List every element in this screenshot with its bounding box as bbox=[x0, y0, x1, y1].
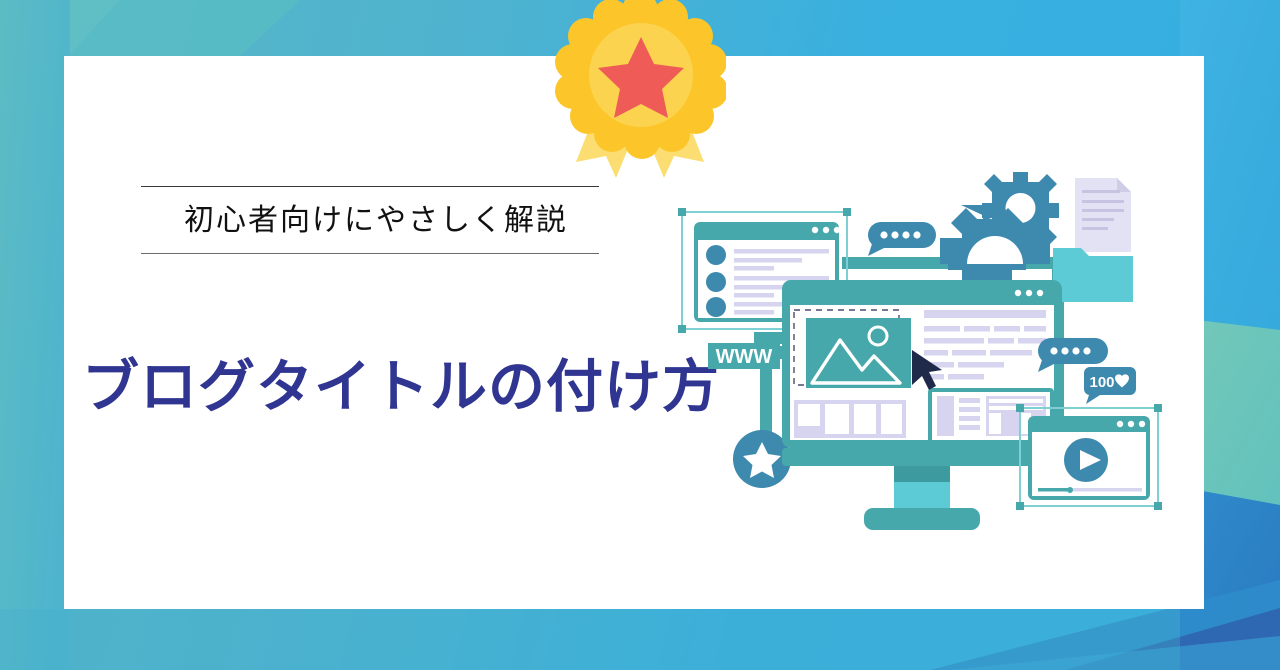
likes-badge: 100 bbox=[1084, 367, 1136, 404]
eyebrow-block: 初心者向けにやさしく解説 bbox=[141, 186, 611, 254]
progress-bar-handle bbox=[1067, 487, 1073, 493]
folder-icon bbox=[1053, 248, 1133, 302]
image-placeholder-icon bbox=[806, 318, 911, 388]
eyebrow-text: 初心者向けにやさしく解説 bbox=[141, 187, 611, 253]
web-design-illustration: WWW bbox=[672, 160, 1172, 540]
eyebrow-rule-bottom bbox=[141, 253, 599, 254]
thumbnail-row bbox=[794, 400, 906, 438]
banner-stage: 初心者向けにやさしく解説 ブログタイトルの付け方 bbox=[0, 0, 1280, 670]
www-badge-label: WWW bbox=[716, 346, 773, 368]
page-title: ブログタイトルの付け方 bbox=[82, 355, 722, 421]
www-badge: WWW bbox=[708, 343, 780, 369]
likes-count: 100 bbox=[1089, 374, 1114, 391]
award-rosette-badge bbox=[554, 0, 726, 178]
chat-bubble-top-icon bbox=[868, 222, 936, 256]
document-sheet-icon bbox=[1075, 178, 1131, 252]
video-player-window bbox=[1016, 404, 1162, 510]
progress-bar-fill bbox=[1038, 488, 1070, 492]
shape-left-band bbox=[0, 0, 70, 670]
shape-bottom-band bbox=[0, 609, 1180, 670]
